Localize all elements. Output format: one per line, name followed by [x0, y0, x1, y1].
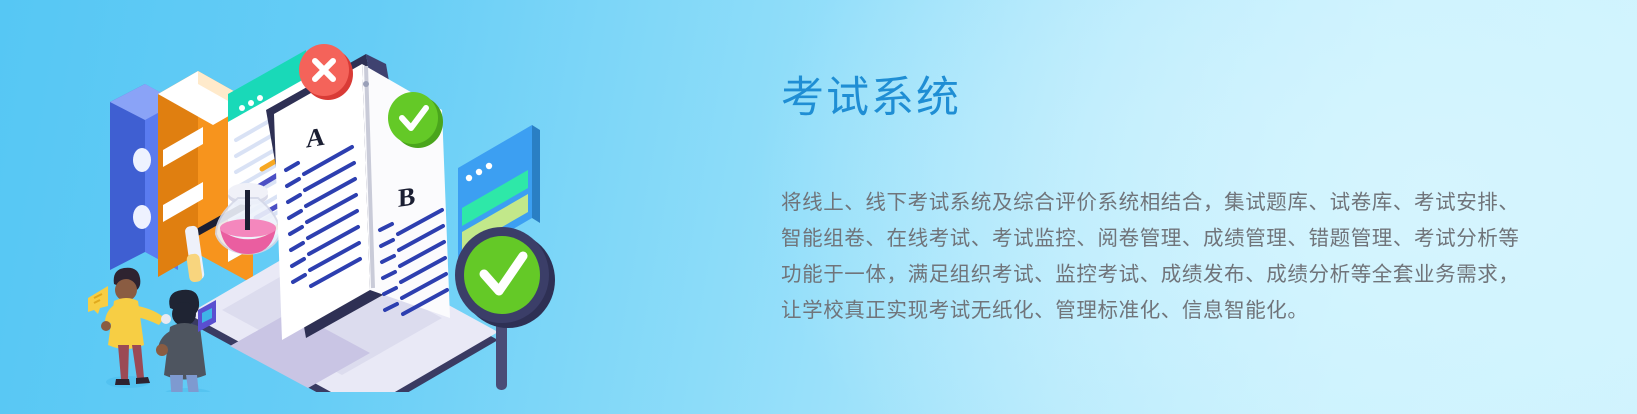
banner-copy: 考试系统 将线上、线下考试系统及综合评价系统相结合，集试题库、试卷库、考试安排、… — [781, 72, 1501, 329]
exam-system-isometric-illustration: A B — [70, 22, 590, 392]
page-title: 考试系统 — [781, 72, 1501, 124]
page-description: 将线上、线下考试系统及综合评价系统相结合，集试题库、试卷库、考试安排、 智能组卷… — [781, 185, 1496, 329]
description-line-3: 功能于一体，满足组织考试、监控考试、成绩发布、成绩分析等全套业务需求， — [781, 257, 1496, 293]
description-line-1: 将线上、线下考试系统及综合评价系统相结合，集试题库、试卷库、考试安排、 — [781, 185, 1496, 221]
description-line-2: 智能组卷、在线考试、考试监控、阅卷管理、成绩管理、错题管理、考试分析等 — [781, 221, 1496, 257]
magnifier-check-icon — [455, 227, 555, 390]
person-woman-icon — [88, 268, 171, 388]
svg-text:A: A — [306, 122, 325, 154]
person-man-icon — [156, 290, 216, 392]
exam-system-banner: A B — [0, 0, 1637, 414]
description-line-4: 让学校真正实现考试无纸化、管理标准化、信息智能化。 — [781, 293, 1496, 329]
svg-text:B: B — [398, 181, 415, 213]
